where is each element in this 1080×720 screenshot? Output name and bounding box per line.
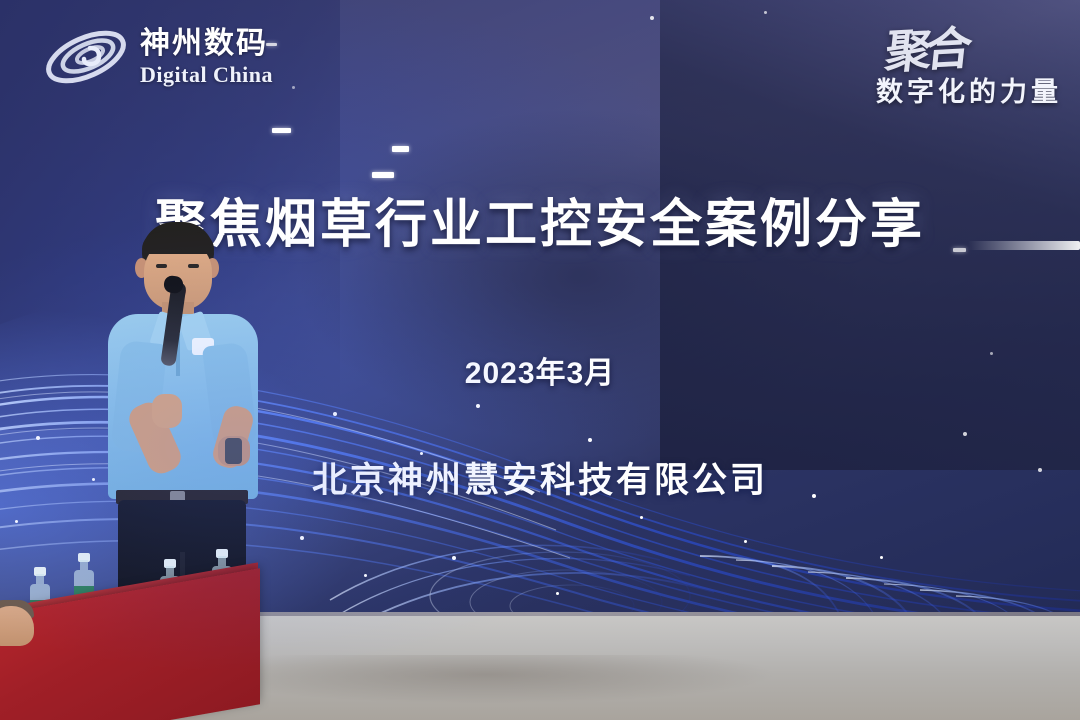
speaker-hand-left — [152, 394, 182, 428]
presentation-clicker — [225, 438, 242, 464]
digital-china-name-cn: 神州数码 — [140, 29, 273, 59]
digital-china-logo: 神州数码 Digital China — [42, 18, 332, 96]
juhe-brush-text: 聚合 — [882, 12, 970, 82]
speaker-person — [92, 222, 302, 622]
speaker-eye-left — [156, 264, 167, 268]
spiral-galaxy-icon — [42, 26, 130, 88]
speaker-eye-right — [188, 264, 199, 268]
stage-floor-shadow — [230, 655, 870, 720]
conference-stage-photo: 神州数码 Digital China 聚合 数字化的力量 聚焦烟草行业工控安全案… — [0, 0, 1080, 720]
juhe-event-logo: 聚合 数字化的力量 — [792, 14, 1062, 114]
speaker-fringe — [142, 232, 214, 254]
digital-china-name-en: Digital China — [140, 64, 273, 86]
